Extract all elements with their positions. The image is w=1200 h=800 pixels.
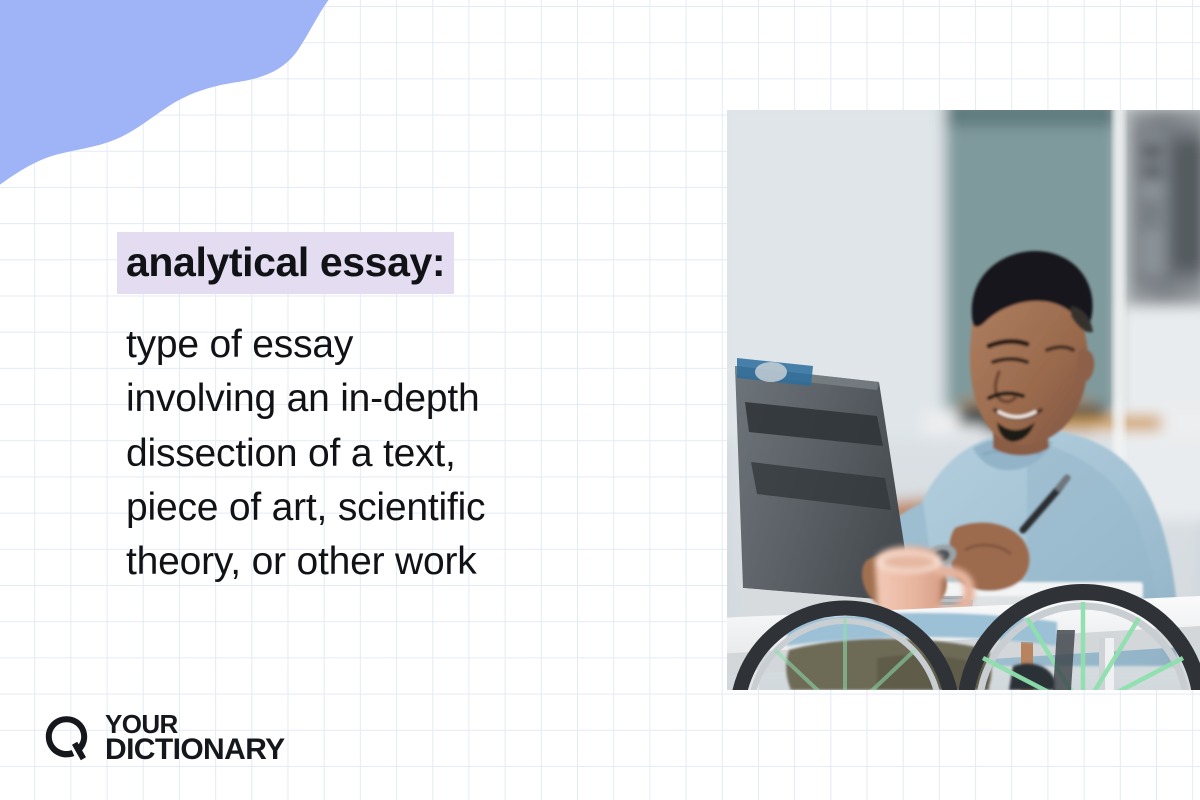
definition-text-block: analytical essay: type of essay involvin… (126, 232, 596, 589)
definition-line-4: piece of art, scientific (126, 481, 586, 535)
definition-line-3: dissection of a text, (126, 427, 586, 481)
definition-body: type of essay involving an in-depth diss… (126, 318, 586, 589)
term-highlight-wrap: analytical essay: (126, 232, 596, 294)
yourdictionary-logo: YOUR DICTIONARY (42, 712, 285, 764)
photo-man-at-laptop (727, 110, 1200, 690)
definition-line-1: type of essay (126, 318, 586, 372)
term-heading: analytical essay: (117, 232, 454, 294)
definition-line-5: theory, or other work (126, 535, 586, 589)
definition-line-2: involving an in-depth (126, 372, 586, 426)
yourdictionary-q-mark-icon (42, 713, 92, 763)
logo-wordmark: YOUR DICTIONARY (105, 712, 285, 764)
logo-line-dictionary: DICTIONARY (105, 736, 285, 764)
definition-card: analytical essay: type of essay involvin… (0, 0, 1200, 800)
